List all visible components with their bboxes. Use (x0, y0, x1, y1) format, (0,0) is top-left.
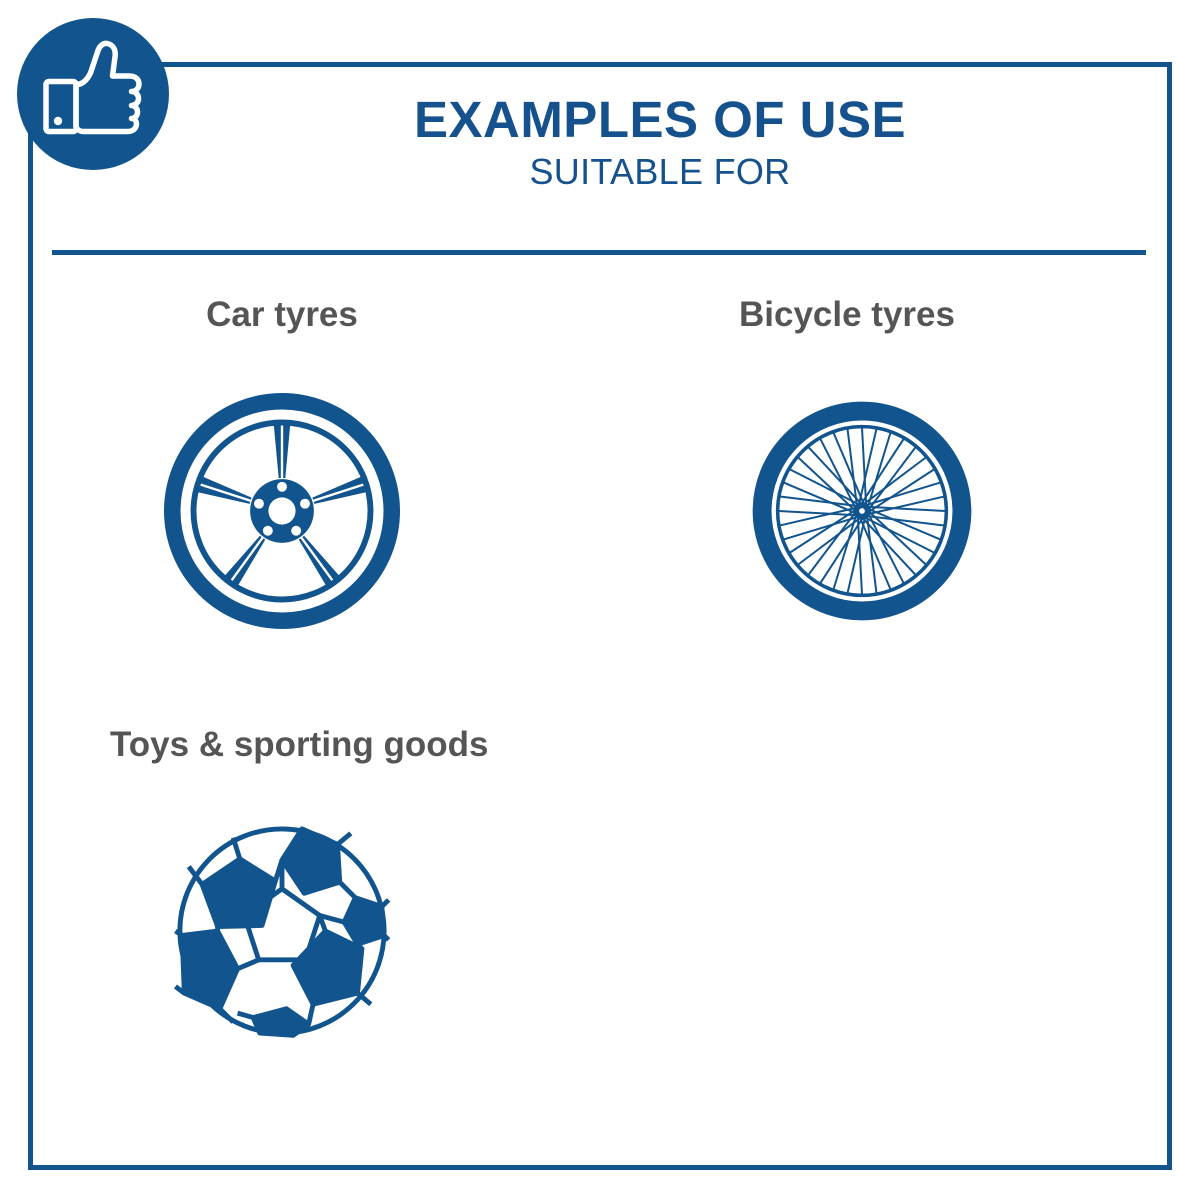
page-title: EXAMPLES OF USE (180, 94, 1140, 146)
header: EXAMPLES OF USE SUITABLE FOR (180, 94, 1140, 192)
example-label: Car tyres (122, 295, 442, 343)
football-icon (171, 820, 393, 1042)
example-label: Toys & sporting goods (110, 725, 622, 773)
examples-grid: Car tyres (52, 285, 1146, 1145)
example-item-toys-sporting-goods: Toys & sporting goods (102, 725, 622, 1051)
cuff-dot-icon (54, 117, 62, 125)
car-wheel-icon (164, 393, 400, 629)
thumbs-up-badge (17, 18, 169, 170)
example-item-car-tyres: Car tyres (102, 295, 622, 631)
page-subtitle: SUITABLE FOR (180, 152, 1140, 192)
thumbs-up-icon (17, 18, 169, 170)
bicycle-wheel-icon-wrap (702, 391, 1022, 631)
infographic-page: EXAMPLES OF USE SUITABLE FOR Car tyres (0, 0, 1200, 1200)
header-divider (52, 250, 1146, 255)
car-wheel-icon-wrap (122, 391, 442, 631)
bicycle-wheel-icon (751, 400, 973, 622)
example-label: Bicycle tyres (672, 295, 1022, 343)
football-icon-wrap (122, 811, 442, 1051)
example-item-bicycle-tyres: Bicycle tyres (662, 295, 1182, 631)
